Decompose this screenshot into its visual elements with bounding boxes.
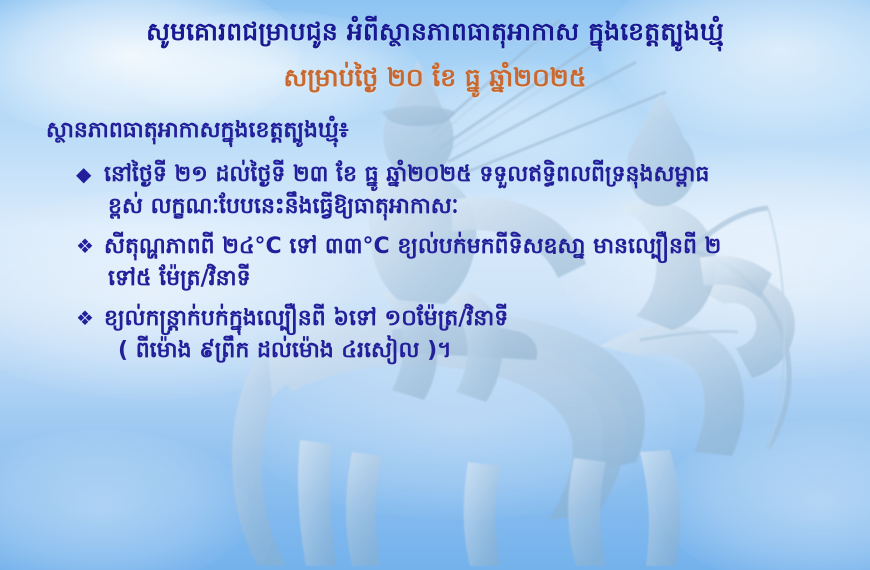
list-item-line: សីតុណ្ហភាពពី ២៤°C ទៅ ៣៣°C ខ្យល់បក់មកពីទិ… bbox=[104, 236, 846, 258]
diamond-bullet-icon: ◆ bbox=[76, 164, 91, 185]
forecast-body: ស្ថានភាពធាតុអាកាសក្នុងខេត្តត្បូងឃ្មុំ៖ ◆… bbox=[46, 120, 846, 380]
poster-text-content: សូមគោរពជម្រាបជូន អំពីស្ថានភាពធាតុអាកាស ក… bbox=[0, 0, 870, 570]
list-item: ❖ សីតុណ្ហភាពពី ២៤°C ទៅ ៣៣°C ខ្យល់បក់មកពី… bbox=[46, 236, 846, 290]
list-item-line: ខ្ពស់ លក្ខណៈបែបនេះនឹងធ្វើឱ្យធាតុអាកាសៈ bbox=[104, 196, 846, 218]
page-title-line-1: សូមគោរពជម្រាបជូន អំពីស្ថានភាពធាតុអាកាស ក… bbox=[0, 16, 870, 47]
list-item: ◆ នៅថ្ងៃទី ២១ ដល់ថ្ងៃទី ២៣ ខែ ធ្នូ ឆ្នាំ… bbox=[46, 164, 846, 218]
flower-bullet-icon: ❖ bbox=[76, 236, 94, 257]
page-title-line-2: សម្រាប់ថ្ងៃ ២០ ខែ ធ្នូ ឆ្នាំ២០២៥ bbox=[0, 62, 870, 93]
list-item-line: នៅថ្ងៃទី ២១ ដល់ថ្ងៃទី ២៣ ខែ ធ្នូ ឆ្នាំ២០… bbox=[104, 164, 846, 186]
list-item: ❖ ខ្យល់កន្ត្រាក់បក់ក្នុងល្បឿនពី ៦ទៅ ១០ម៉… bbox=[46, 308, 846, 362]
weather-announcement-poster: សូមគោរពជម្រាបជូន អំពីស្ថានភាពធាតុអាកាស ក… bbox=[0, 0, 870, 570]
list-item-line: ខ្យល់កន្ត្រាក់បក់ក្នុងល្បឿនពី ៦ទៅ ១០ម៉ែត… bbox=[104, 308, 846, 330]
forecast-lead-text: ស្ថានភាពធាតុអាកាសក្នុងខេត្តត្បូងឃ្មុំ៖ bbox=[46, 120, 846, 142]
flower-bullet-icon: ❖ bbox=[76, 308, 94, 329]
list-item-line: ( ពីម៉ោង ៩ព្រឹក ដល់ម៉ោង ៤រសៀល )។ bbox=[104, 340, 846, 362]
list-item-line: ទៅ៥ ម៉ែត្រ/វិនាទី bbox=[104, 268, 846, 290]
